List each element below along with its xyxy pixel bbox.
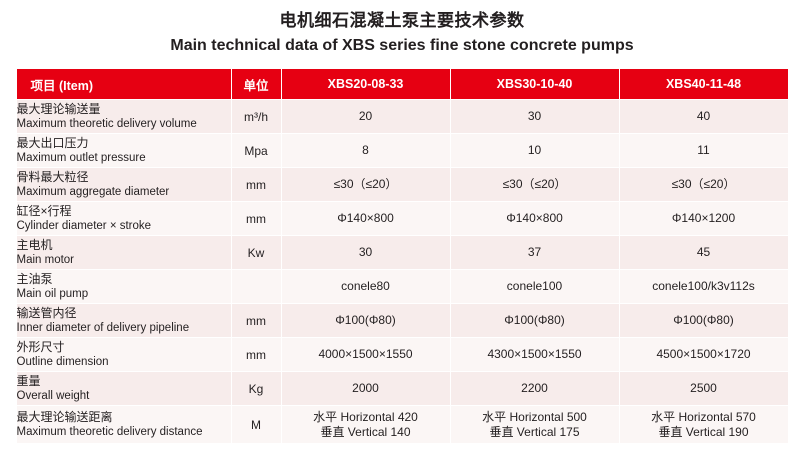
row-label-aggregate-diameter: 骨料最大粒径 Maximum aggregate diameter bbox=[16, 168, 231, 202]
row-label-main-oil-pump: 主油泵 Main oil pump bbox=[16, 270, 231, 304]
row-value-model-1: Φ100(Φ80) bbox=[281, 304, 450, 338]
row-value-model-2: Φ100(Φ80) bbox=[450, 304, 619, 338]
column-header-model-3: XBS40-11-48 bbox=[619, 69, 788, 100]
table-row: 输送管内径 Inner diameter of delivery pipelin… bbox=[16, 304, 788, 338]
table-row: 外形尺寸 Outline dimension mm 4000×1500×1550… bbox=[16, 338, 788, 372]
row-unit: Kw bbox=[231, 236, 281, 270]
row-value-model-2: 4300×1500×1550 bbox=[450, 338, 619, 372]
table-header-row: 项目 (Item) 单位 XBS20-08-33 XBS30-10-40 XBS… bbox=[16, 69, 788, 100]
table-body: 最大理论输送量 Maximum theoretic delivery volum… bbox=[16, 100, 788, 444]
row-value-model-2: 37 bbox=[450, 236, 619, 270]
row-unit: Kg bbox=[231, 372, 281, 406]
table-header: 项目 (Item) 单位 XBS20-08-33 XBS30-10-40 XBS… bbox=[16, 69, 788, 100]
column-header-model-2: XBS30-10-40 bbox=[450, 69, 619, 100]
row-label-main-motor: 主电机 Main motor bbox=[16, 236, 231, 270]
row-label-cylinder-stroke: 缸径×行程 Cylinder diameter × stroke bbox=[16, 202, 231, 236]
row-value-model-3: 4500×1500×1720 bbox=[619, 338, 788, 372]
row-unit bbox=[231, 270, 281, 304]
table-row: 骨料最大粒径 Maximum aggregate diameter mm ≤30… bbox=[16, 168, 788, 202]
row-value-model-3: 2500 bbox=[619, 372, 788, 406]
spec-sheet-page: 电机细石混凝土泵主要技术参数 Main technical data of XB… bbox=[0, 0, 804, 457]
row-value-model-3: 水平 Horizontal 570 垂直 Vertical 190 bbox=[619, 406, 788, 444]
row-unit: mm bbox=[231, 304, 281, 338]
row-value-model-2: Φ140×800 bbox=[450, 202, 619, 236]
row-value-model-3: Φ140×1200 bbox=[619, 202, 788, 236]
row-unit: mm bbox=[231, 202, 281, 236]
row-value-model-1: conele80 bbox=[281, 270, 450, 304]
row-unit: mm bbox=[231, 168, 281, 202]
technical-data-table: 项目 (Item) 单位 XBS20-08-33 XBS30-10-40 XBS… bbox=[16, 68, 789, 444]
table-row: 主电机 Main motor Kw 30 37 45 bbox=[16, 236, 788, 270]
row-value-model-2: 10 bbox=[450, 134, 619, 168]
row-value-model-2: 30 bbox=[450, 100, 619, 134]
row-value-model-3: 45 bbox=[619, 236, 788, 270]
table-row: 主油泵 Main oil pump conele80 conele100 con… bbox=[16, 270, 788, 304]
row-value-model-2: conele100 bbox=[450, 270, 619, 304]
row-unit: Mpa bbox=[231, 134, 281, 168]
row-value-model-1: 4000×1500×1550 bbox=[281, 338, 450, 372]
row-value-model-3: 11 bbox=[619, 134, 788, 168]
column-header-item: 项目 (Item) bbox=[16, 69, 231, 100]
row-label-delivery-volume: 最大理论输送量 Maximum theoretic delivery volum… bbox=[16, 100, 231, 134]
page-title-cn: 电机细石混凝土泵主要技术参数 bbox=[0, 9, 804, 33]
row-value-model-2: 2200 bbox=[450, 372, 619, 406]
row-unit: mm bbox=[231, 338, 281, 372]
row-label-outlet-pressure: 最大出口压力 Maximum outlet pressure bbox=[16, 134, 231, 168]
row-value-model-1: 20 bbox=[281, 100, 450, 134]
row-value-model-1: 30 bbox=[281, 236, 450, 270]
row-value-model-3: 40 bbox=[619, 100, 788, 134]
row-unit: m³/h bbox=[231, 100, 281, 134]
table-row: 缸径×行程 Cylinder diameter × stroke mm Φ140… bbox=[16, 202, 788, 236]
table-row: 最大理论输送量 Maximum theoretic delivery volum… bbox=[16, 100, 788, 134]
page-title-en: Main technical data of XBS series fine s… bbox=[0, 34, 804, 58]
row-label-delivery-distance: 最大理论输送距离 Maximum theoretic delivery dist… bbox=[16, 406, 231, 444]
table-row: 重量 Overall weight Kg 2000 2200 2500 bbox=[16, 372, 788, 406]
row-value-model-1: 水平 Horizontal 420 垂直 Vertical 140 bbox=[281, 406, 450, 444]
row-value-model-3: Φ100(Φ80) bbox=[619, 304, 788, 338]
row-label-outline-dimension: 外形尺寸 Outline dimension bbox=[16, 338, 231, 372]
row-value-model-3: conele100/k3v112s bbox=[619, 270, 788, 304]
row-unit: M bbox=[231, 406, 281, 444]
row-label-overall-weight: 重量 Overall weight bbox=[16, 372, 231, 406]
row-value-model-1: 2000 bbox=[281, 372, 450, 406]
row-value-model-1: ≤30（≤20） bbox=[281, 168, 450, 202]
table-row: 最大出口压力 Maximum outlet pressure Mpa 8 10 … bbox=[16, 134, 788, 168]
column-header-model-1: XBS20-08-33 bbox=[281, 69, 450, 100]
row-label-pipeline-inner-diameter: 输送管内径 Inner diameter of delivery pipelin… bbox=[16, 304, 231, 338]
row-value-model-1: 8 bbox=[281, 134, 450, 168]
row-value-model-3: ≤30（≤20） bbox=[619, 168, 788, 202]
row-value-model-2: 水平 Horizontal 500 垂直 Vertical 175 bbox=[450, 406, 619, 444]
table-row: 最大理论输送距离 Maximum theoretic delivery dist… bbox=[16, 406, 788, 444]
column-header-unit: 单位 bbox=[231, 69, 281, 100]
row-value-model-1: Φ140×800 bbox=[281, 202, 450, 236]
row-value-model-2: ≤30（≤20） bbox=[450, 168, 619, 202]
title-block: 电机细石混凝土泵主要技术参数 Main technical data of XB… bbox=[0, 0, 804, 58]
